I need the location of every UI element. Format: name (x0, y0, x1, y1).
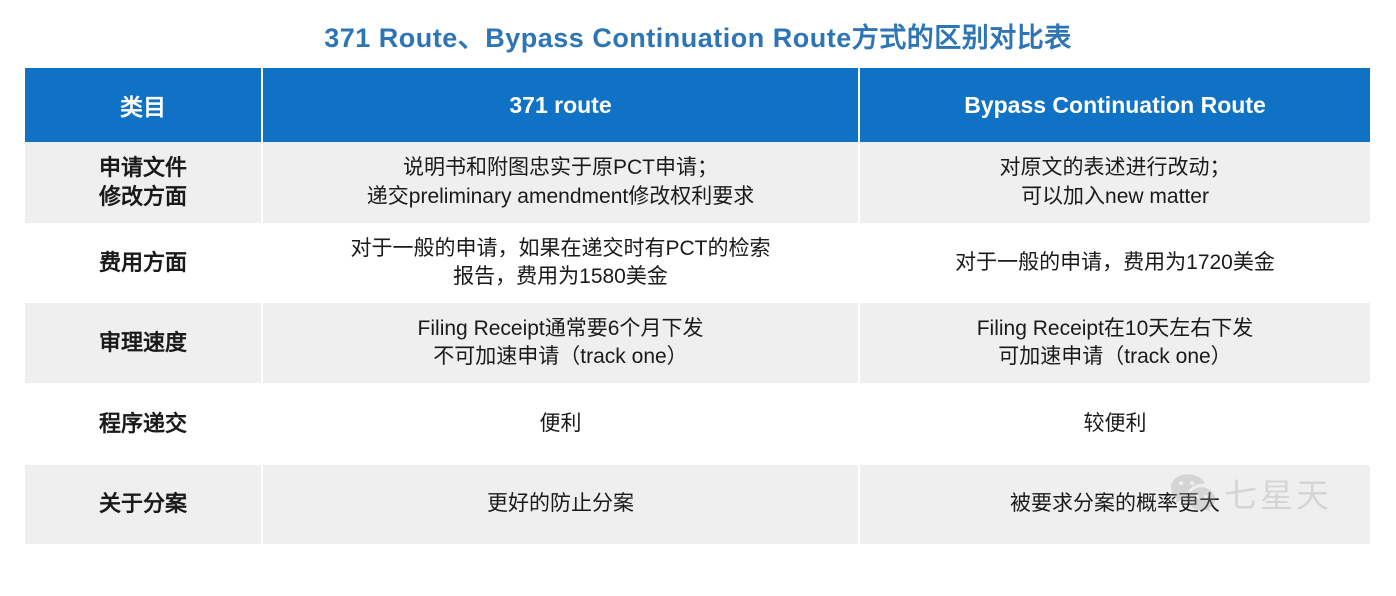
cell-bypass-route: 对原文的表述进行改动； 可以加入new matter (859, 142, 1370, 224)
cell-text-line: Filing Receipt通常要6个月下发 (271, 315, 850, 343)
cell-text-line: 报告，费用为1580美金 (271, 263, 850, 291)
cell-text-line: 可以加入new matter (868, 183, 1362, 211)
cell-text-line: 不可加速申请（track one） (271, 343, 850, 371)
table-header-row: 类目 371 route Bypass Continuation Route (25, 68, 1370, 142)
cell-371-route: 更好的防止分案 (262, 464, 859, 544)
cell-category: 审理速度 (25, 302, 262, 384)
table-row: 审理速度 Filing Receipt通常要6个月下发 不可加速申请（track… (25, 302, 1370, 384)
cell-text-line: 递交preliminary amendment修改权利要求 (271, 183, 850, 211)
column-header-bypass-continuation-route: Bypass Continuation Route (859, 68, 1370, 142)
cell-text-line: 修改方面 (33, 183, 253, 212)
cell-text-line: 对于一般的申请，费用为1720美金 (868, 249, 1362, 277)
cell-text-line: 被要求分案的概率更大 (868, 490, 1362, 518)
column-header-371-route: 371 route (262, 68, 859, 142)
cell-bypass-route: 对于一般的申请，费用为1720美金 (859, 224, 1370, 302)
cell-text-line: 较便利 (868, 410, 1362, 438)
table-row: 申请文件 修改方面 说明书和附图忠实于原PCT申请； 递交preliminary… (25, 142, 1370, 224)
cell-category: 申请文件 修改方面 (25, 142, 262, 224)
cell-text-line: 费用方面 (33, 249, 253, 278)
cell-category: 程序递交 (25, 384, 262, 464)
cell-text-line: 申请文件 (33, 154, 253, 183)
cell-text-line: 程序递交 (33, 410, 253, 439)
cell-text-line: 对于一般的申请，如果在递交时有PCT的检索 (271, 235, 850, 263)
cell-category: 费用方面 (25, 224, 262, 302)
cell-category: 关于分案 (25, 464, 262, 544)
table-header: 类目 371 route Bypass Continuation Route (25, 68, 1370, 142)
cell-371-route: Filing Receipt通常要6个月下发 不可加速申请（track one） (262, 302, 859, 384)
cell-371-route: 对于一般的申请，如果在递交时有PCT的检索 报告，费用为1580美金 (262, 224, 859, 302)
cell-text-line: 说明书和附图忠实于原PCT申请； (271, 154, 850, 182)
cell-371-route: 说明书和附图忠实于原PCT申请； 递交preliminary amendment… (262, 142, 859, 224)
cell-text-line: 对原文的表述进行改动； (868, 154, 1362, 182)
page-title: 371 Route、Bypass Continuation Route方式的区别… (0, 16, 1396, 55)
table-row: 关于分案 更好的防止分案 被要求分案的概率更大 (25, 464, 1370, 544)
comparison-table: 类目 371 route Bypass Continuation Route 申… (25, 68, 1370, 544)
cell-text-line: Filing Receipt在10天左右下发 (868, 315, 1362, 343)
cell-bypass-route: 被要求分案的概率更大 (859, 464, 1370, 544)
cell-text-line: 更好的防止分案 (271, 490, 850, 518)
table-row: 费用方面 对于一般的申请，如果在递交时有PCT的检索 报告，费用为1580美金 … (25, 224, 1370, 302)
cell-bypass-route: 较便利 (859, 384, 1370, 464)
table-body: 申请文件 修改方面 说明书和附图忠实于原PCT申请； 递交preliminary… (25, 142, 1370, 544)
column-header-category: 类目 (25, 68, 262, 142)
cell-text-line: 审理速度 (33, 329, 253, 358)
cell-bypass-route: Filing Receipt在10天左右下发 可加速申请（track one） (859, 302, 1370, 384)
cell-text-line: 便利 (271, 410, 850, 438)
cell-371-route: 便利 (262, 384, 859, 464)
cell-text-line: 关于分案 (33, 490, 253, 519)
cell-text-line: 可加速申请（track one） (868, 343, 1362, 371)
table-row: 程序递交 便利 较便利 (25, 384, 1370, 464)
